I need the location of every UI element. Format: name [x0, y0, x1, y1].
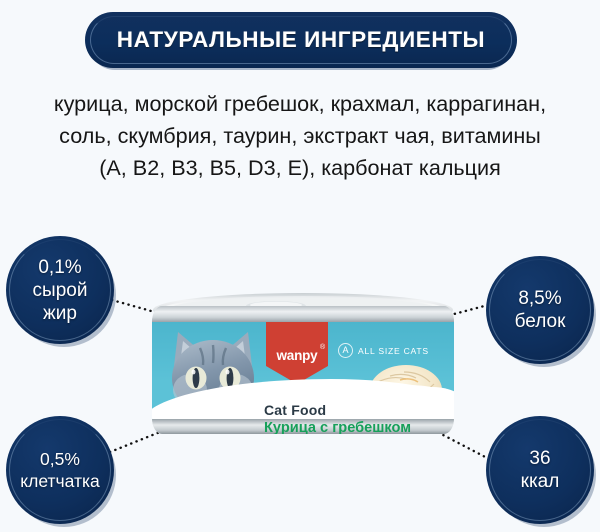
banner-pill: НАТУРАЛЬНЫЕ ИНГРЕДИЕНТЫ — [85, 12, 517, 68]
can-body: wanpy ® A ALL SIZE CATS — [152, 306, 454, 434]
brand-name: wanpy — [266, 346, 328, 364]
can-product-text: Cat Food Курица с гребешком — [264, 402, 454, 434]
fact-badge-calories: 36 ккал — [486, 416, 598, 528]
fact-label-calories: 36 ккал — [486, 416, 594, 524]
can-rim-top — [152, 306, 454, 322]
brand-registered-mark: ® — [320, 344, 325, 351]
ingredients-text: курица, морской гребешок, крахмал, карра… — [0, 88, 600, 184]
fact-badge-protein: 8,5% белок — [486, 256, 598, 368]
product-name-ru: Курица с гребешком — [264, 419, 454, 434]
product-can: wanpy ® A ALL SIZE CATS — [152, 292, 454, 444]
title-banner: НАТУРАЛЬНЫЕ ИНГРЕДИЕНТЫ — [85, 12, 517, 70]
fact-badge-fiber: 0,5% клетчатка — [6, 416, 118, 528]
fact-label-protein: 8,5% белок — [486, 256, 594, 364]
fact-badge-crude-fat: 0,1% сырой жир — [6, 236, 118, 348]
product-name-en: Cat Food — [264, 402, 454, 419]
page-title: НАТУРАЛЬНЫЕ ИНГРЕДИЕНТЫ — [85, 12, 517, 68]
fact-label-crude-fat: 0,1% сырой жир — [6, 236, 114, 344]
size-badge-icon: A — [338, 343, 353, 358]
size-label: ALL SIZE CATS — [358, 346, 429, 356]
fact-label-fiber: 0,5% клетчатка — [6, 416, 114, 524]
infographic-page: НАТУРАЛЬНЫЕ ИНГРЕДИЕНТЫ курица, морской … — [0, 0, 600, 532]
